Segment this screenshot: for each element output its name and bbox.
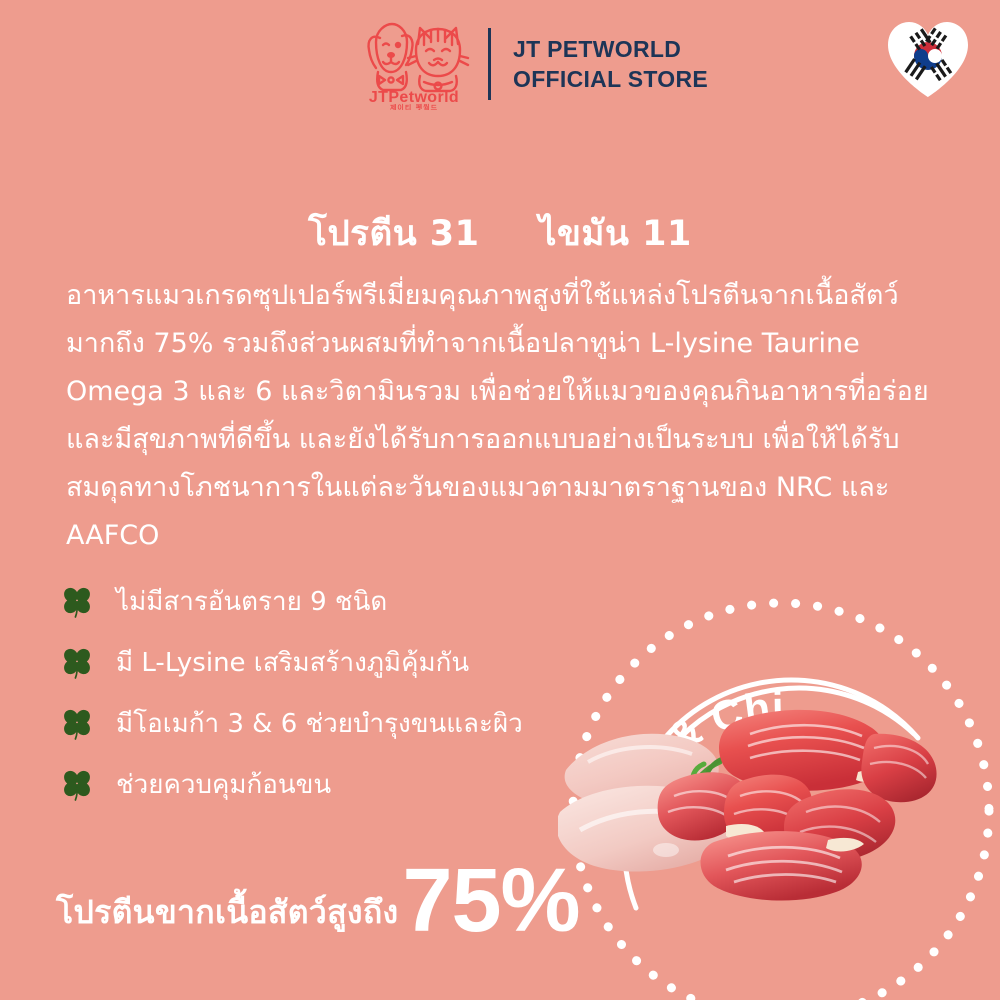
brand-title: JT PETWORLD OFFICIAL STORE bbox=[513, 34, 708, 94]
brand-divider bbox=[488, 28, 491, 100]
list-item: มีโอเมก้า 3 & 6 ช่วยบำรุงขนและผิว bbox=[60, 698, 620, 750]
product-infographic-canvas: JTPetworld 제이티 펫월드 JT PETWORLD OFFICIAL … bbox=[0, 0, 1000, 1000]
list-item-label: มีโอเมก้า 3 & 6 ช่วยบำรุงขนและผิว bbox=[116, 707, 523, 741]
protein-claim-figure: 75% bbox=[402, 862, 579, 940]
logo-subtitle-text: 제이티 펫월드 bbox=[390, 103, 438, 110]
brand-lockup: JTPetworld 제이티 펫월드 JT PETWORLD OFFICIAL … bbox=[358, 16, 708, 112]
flavour-medallion: Tuna & Chicken bbox=[558, 588, 1000, 1000]
protein-value: โปรตีน 31 bbox=[308, 214, 479, 254]
four-leaf-clover-icon bbox=[60, 768, 94, 802]
list-item: มี L-Lysine เสริมสร้างภูมิคุ้มกัน bbox=[60, 637, 620, 689]
list-item-label: ไม่มีสารอันตราย 9 ชนิด bbox=[116, 585, 387, 619]
four-leaf-clover-icon bbox=[60, 707, 94, 741]
korea-flag-heart-icon bbox=[884, 18, 972, 100]
header-bar: JTPetworld 제이티 펫월드 JT PETWORLD OFFICIAL … bbox=[0, 0, 1000, 128]
list-item-label: ช่วยควบคุมก้อนขน bbox=[116, 768, 331, 802]
list-item-label: มี L-Lysine เสริมสร้างภูมิคุ้มกัน bbox=[116, 646, 469, 680]
four-leaf-clover-icon bbox=[60, 646, 94, 680]
brand-title-line-1: JT PETWORLD bbox=[513, 34, 708, 64]
product-description: อาหารแมวเกรดซุปเปอร์พรีเมี่ยมคุณภาพสูงที… bbox=[66, 272, 942, 560]
feature-list: ไม่มีสารอันตราย 9 ชนิด มี L-Lysine เสริม… bbox=[60, 576, 620, 820]
nutrition-headline: โปรตีน 31 ไขมัน 11 bbox=[0, 206, 1000, 261]
fat-value: ไขมัน 11 bbox=[539, 214, 692, 254]
protein-claim: โปรตีนขากเนื้อสัตว์สูงถึง 75% bbox=[56, 862, 580, 940]
tuna-steak-right-upper bbox=[861, 734, 936, 802]
list-item: ไม่มีสารอันตราย 9 ชนิด bbox=[60, 576, 620, 628]
brand-title-line-2: OFFICIAL STORE bbox=[513, 64, 708, 94]
protein-claim-text: โปรตีนขากเนื้อสัตว์สูงถึง bbox=[56, 890, 398, 940]
four-leaf-clover-icon bbox=[60, 585, 94, 619]
tuna-and-chicken-photo bbox=[558, 684, 948, 934]
dog-and-cat-logo-icon: JTPetworld 제이티 펫월드 bbox=[358, 18, 470, 110]
list-item: ช่วยควบคุมก้อนขน bbox=[60, 759, 620, 811]
